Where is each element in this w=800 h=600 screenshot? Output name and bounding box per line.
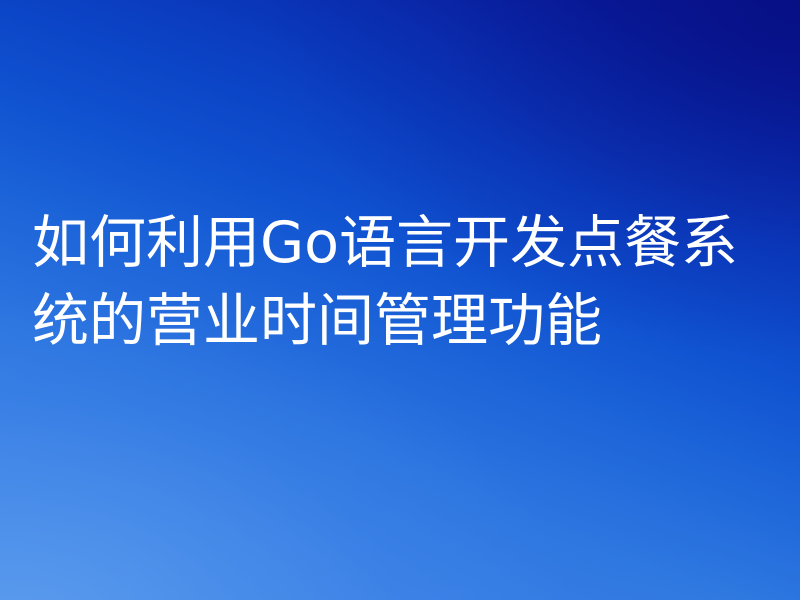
title-line-2: 统的营业时间管理功能 (32, 282, 788, 360)
title-card: 如何利用Go语言开发点餐系 统的营业时间管理功能 (0, 0, 800, 600)
page-title: 如何利用Go语言开发点餐系 统的营业时间管理功能 (32, 204, 788, 360)
title-line-1: 如何利用Go语言开发点餐系 (32, 204, 788, 282)
